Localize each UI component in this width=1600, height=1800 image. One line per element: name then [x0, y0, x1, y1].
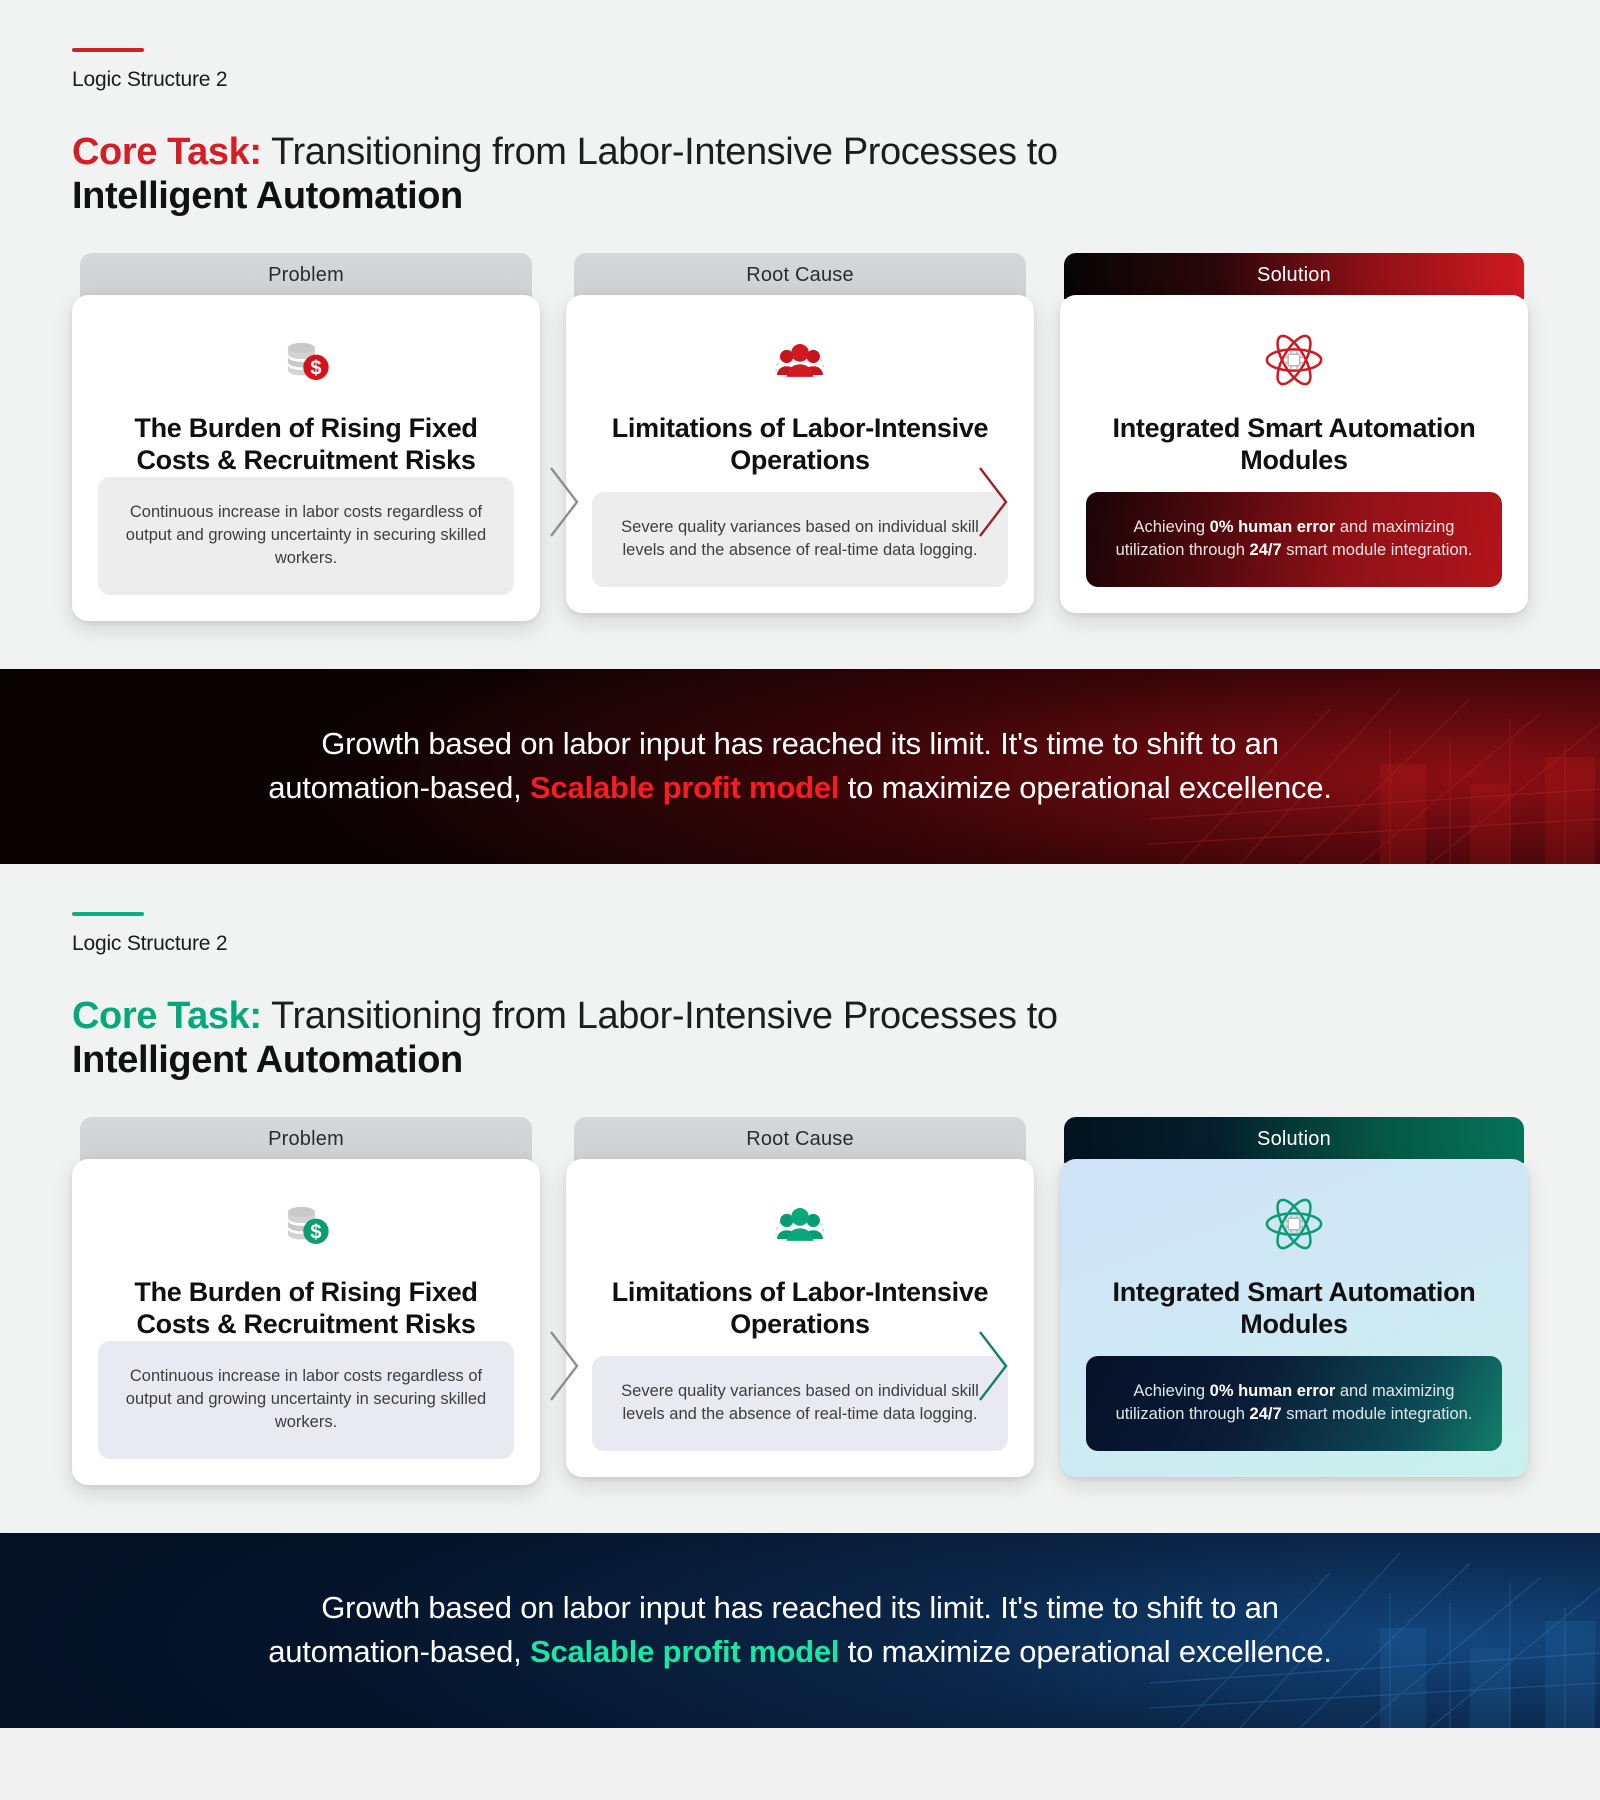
card-title: The Burden of Rising Fixed Costs & Recru… — [98, 1277, 514, 1341]
svg-text:$: $ — [310, 1221, 321, 1243]
people-group-icon — [769, 1193, 831, 1255]
card-body: $ The Burden of Rising Fixed Costs & Rec… — [72, 1159, 540, 1485]
card-title: Limitations of Labor-Intensive Operation… — [592, 1277, 1008, 1341]
card-row: Problem $ The Burden of Rising Fixed Cos… — [0, 1113, 1600, 1533]
eyebrow-label: Logic Structure 2 — [72, 932, 1600, 956]
atom-chip-icon — [1263, 1193, 1325, 1255]
slide-red: Logic Structure 2 Core Task: Transitioni… — [0, 0, 1600, 864]
card-tab-label: Problem — [80, 253, 532, 299]
summary-banner: Growth based on labor input has reached … — [0, 1533, 1600, 1728]
banner-text: Growth based on labor input has reached … — [210, 722, 1390, 810]
note-strong: 24/7 — [1250, 1405, 1282, 1423]
card-root-cause[interactable]: Root Cause Limitations of Labor-Intensiv… — [566, 249, 1034, 613]
card-root-cause[interactable]: Root Cause Limitations of Labor-Intensiv… — [566, 1113, 1034, 1477]
card-body: Integrated Smart Automation Modules Achi… — [1060, 1159, 1528, 1477]
headline-strong: Intelligent Automation — [72, 175, 463, 217]
card-body: Limitations of Labor-Intensive Operation… — [566, 1159, 1034, 1477]
card-problem[interactable]: Problem $ The Burden of Rising Fixed Cos… — [72, 1113, 540, 1485]
card-note: Achieving 0% human error and maximizing … — [1086, 1356, 1502, 1451]
card-note: Continuous increase in labor costs regar… — [98, 477, 514, 595]
headline-strong: Intelligent Automation — [72, 1039, 463, 1081]
card-tab-label: Solution — [1064, 1117, 1524, 1163]
eyebrow-rule — [72, 912, 144, 916]
card-solution[interactable]: Solution — [1060, 1113, 1528, 1477]
card-problem[interactable]: Problem $ The Burden of Rising Fixed Cos… — [72, 249, 540, 621]
eyebrow-label: Logic Structure 2 — [72, 68, 1600, 92]
card-solution[interactable]: Solution Integrate — [1060, 249, 1528, 613]
note-part: Achieving — [1134, 518, 1210, 536]
coins-dollar-icon: $ — [277, 329, 335, 391]
card-note: Severe quality variances based on indivi… — [592, 492, 1008, 587]
headline-mid: Transitioning from Labor-Intensive Proce… — [262, 131, 1058, 173]
card-note: Achieving 0% human error and maximizing … — [1086, 492, 1502, 587]
banner-text: Growth based on labor input has reached … — [210, 1586, 1390, 1674]
atom-chip-icon — [1263, 329, 1325, 391]
coins-dollar-icon: $ — [277, 1193, 335, 1255]
card-note: Continuous increase in labor costs regar… — [98, 1341, 514, 1459]
svg-text:$: $ — [310, 357, 321, 379]
card-tab-label: Root Cause — [574, 253, 1026, 299]
note-strong: 0% human error — [1210, 518, 1336, 536]
people-group-icon — [769, 329, 831, 391]
summary-banner: Growth based on labor input has reached … — [0, 669, 1600, 864]
banner-part: to maximize operational excellence. — [839, 1634, 1332, 1669]
card-title: The Burden of Rising Fixed Costs & Recru… — [98, 413, 514, 477]
card-tab-label: Problem — [80, 1117, 532, 1163]
slide-teal: Logic Structure 2 Core Task: Transitioni… — [0, 864, 1600, 1728]
card-tab-label: Solution — [1064, 253, 1524, 299]
headline-lead: Core Task: — [72, 131, 262, 173]
card-note: Severe quality variances based on indivi… — [592, 1356, 1008, 1451]
page-title: Core Task: Transitioning from Labor-Inte… — [72, 130, 1172, 219]
eyebrow-rule — [72, 48, 144, 52]
banner-highlight: Scalable profit model — [530, 770, 839, 805]
note-part: Achieving — [1134, 1382, 1210, 1400]
note-strong: 24/7 — [1250, 541, 1282, 559]
headline-lead: Core Task: — [72, 995, 262, 1037]
banner-highlight: Scalable profit model — [530, 1634, 839, 1669]
headline-mid: Transitioning from Labor-Intensive Proce… — [262, 995, 1058, 1037]
card-title: Integrated Smart Automation Modules — [1086, 413, 1502, 477]
banner-part: to maximize operational excellence. — [839, 770, 1332, 805]
page-title: Core Task: Transitioning from Labor-Inte… — [72, 994, 1172, 1083]
card-title: Integrated Smart Automation Modules — [1086, 1277, 1502, 1341]
note-strong: 0% human error — [1210, 1382, 1336, 1400]
card-body: Integrated Smart Automation Modules Achi… — [1060, 295, 1528, 613]
eyebrow-block: Logic Structure 2 — [0, 0, 1600, 92]
note-part: smart module integration. — [1282, 1405, 1473, 1423]
card-row: Problem $ The Burden of Rising Fixed Cos… — [0, 249, 1600, 669]
card-tab-label: Root Cause — [574, 1117, 1026, 1163]
eyebrow-block: Logic Structure 2 — [0, 864, 1600, 956]
card-title: Limitations of Labor-Intensive Operation… — [592, 413, 1008, 477]
card-body: $ The Burden of Rising Fixed Costs & Rec… — [72, 295, 540, 621]
note-part: smart module integration. — [1282, 541, 1473, 559]
card-body: Limitations of Labor-Intensive Operation… — [566, 295, 1034, 613]
